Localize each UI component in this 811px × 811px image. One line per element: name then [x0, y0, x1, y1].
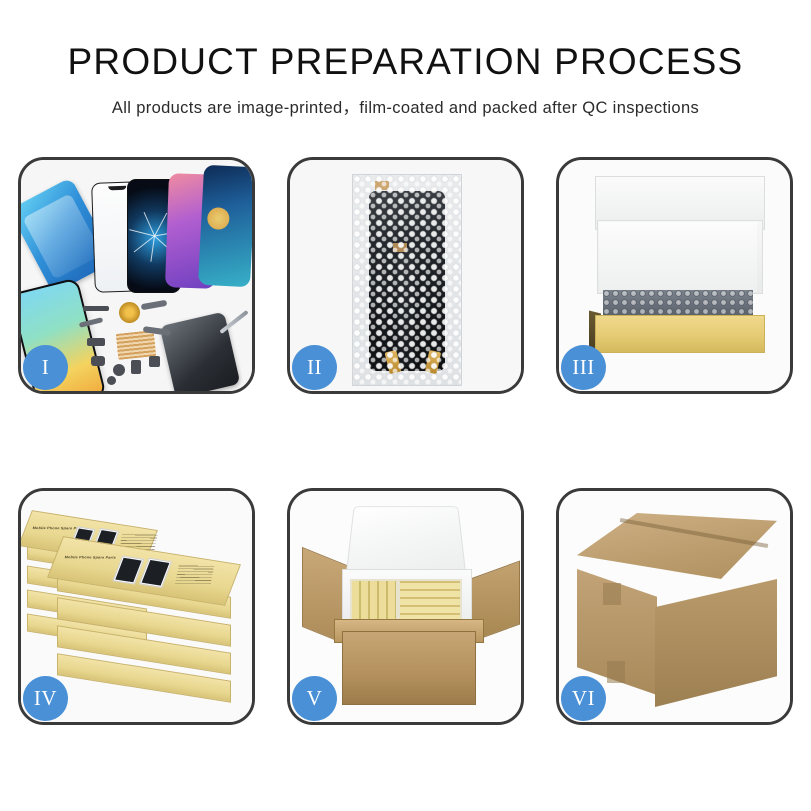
product-preparation-infographic: PRODUCT PREPARATION PROCESS All products… [0, 0, 811, 811]
step-badge-6: VI [561, 676, 606, 721]
small-chip-a [87, 338, 105, 346]
small-chip-b [91, 356, 105, 366]
header: PRODUCT PREPARATION PROCESS All products… [0, 0, 811, 118]
inner-box-front-panel [595, 315, 765, 353]
step-badge-5: V [292, 676, 337, 721]
page-subtitle: All products are image-printed，film-coat… [0, 94, 811, 118]
shipping-box-tape-upper [603, 583, 621, 605]
step-badge-1: I [23, 345, 68, 390]
earpiece-chip [83, 306, 109, 311]
shipping-box-tape-lower [607, 661, 625, 683]
camera-module [113, 364, 125, 376]
screw-part [107, 376, 116, 385]
process-step-3[interactable]: III [556, 157, 793, 394]
process-step-grid: I II [18, 157, 793, 725]
box-brand-label-front: Mobile Phone Spare Parts [64, 555, 116, 559]
yellow-boxes-group-right [400, 581, 460, 621]
teal-gradient-phone [198, 165, 252, 288]
bubble-texture [353, 175, 461, 385]
wireless-charging-coil [119, 302, 140, 323]
small-chip-d [149, 356, 160, 367]
process-step-5[interactable]: V [287, 488, 524, 725]
step-badge-2: II [292, 345, 337, 390]
process-step-4[interactable]: Mobile Phone Spare Parts Mobile Phone Sp… [18, 488, 255, 725]
foam-cooler-lid [346, 506, 467, 574]
step-badge-4: IV [23, 676, 68, 721]
process-step-2[interactable]: II [287, 157, 524, 394]
process-step-1[interactable]: I [18, 157, 255, 394]
shipping-box-top-face [577, 513, 777, 579]
power-flex-cable [141, 300, 168, 310]
shipping-box-right-face [655, 579, 777, 707]
bubble-wrapped-contents [603, 290, 753, 318]
carton-front-wall [342, 631, 476, 705]
white-foam-sheet [599, 222, 757, 292]
process-step-6[interactable]: VI [556, 488, 793, 725]
yellow-boxes-group-left [352, 581, 396, 621]
page-title: PRODUCT PREPARATION PROCESS [0, 43, 811, 82]
small-chip-c [131, 360, 141, 374]
step-badge-3: III [561, 345, 606, 390]
bubble-wrap-bag [352, 174, 462, 386]
